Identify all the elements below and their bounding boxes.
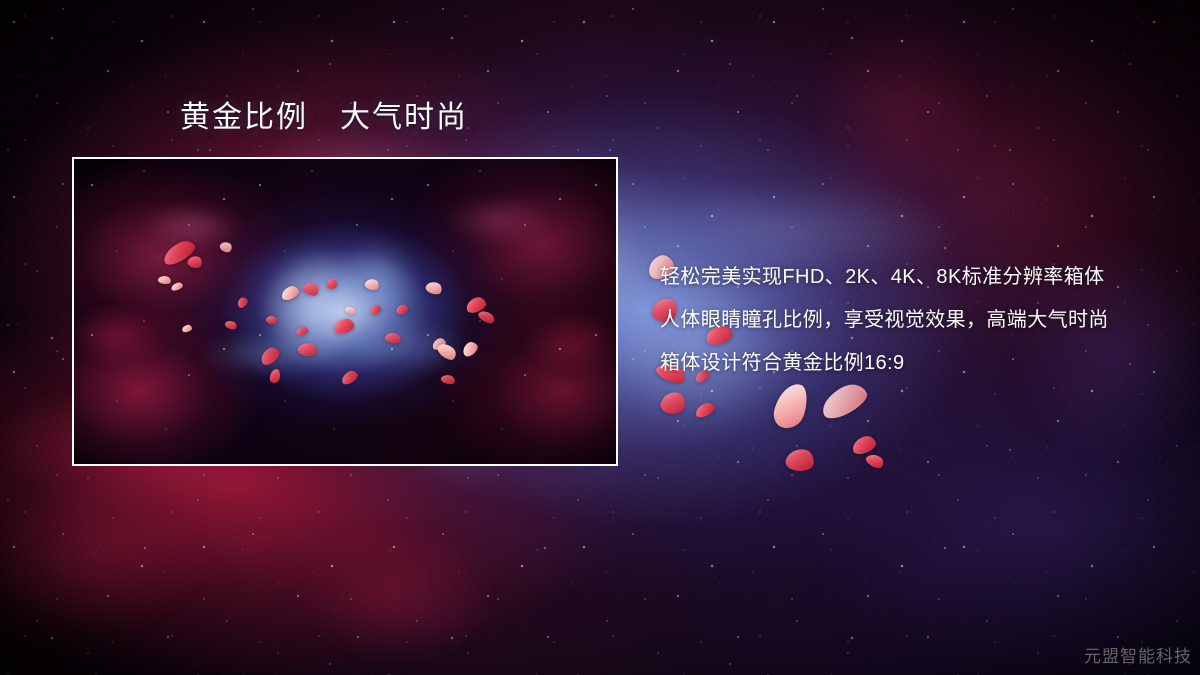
photo-starfield [74, 159, 616, 464]
slide-title: 黄金比例 大气时尚 [180, 100, 468, 136]
framed-photo [72, 157, 618, 466]
body-text-block: 轻松完美实现FHD、2K、4K、8K标准分辨率箱体 人体眼睛瞳孔比例，享受视觉效… [660, 256, 1180, 385]
rose-petal [850, 434, 878, 457]
rose-petal [693, 401, 716, 420]
rose-petal [864, 451, 886, 470]
watermark-text: 元盟智能科技 [1084, 642, 1192, 667]
rose-petal [659, 390, 686, 416]
body-line-2: 人体眼睛瞳孔比例，享受视觉效果，高端大气时尚 [660, 299, 1180, 342]
body-line-1: 轻松完美实现FHD、2K、4K、8K标准分辨率箱体 [660, 256, 1180, 299]
rose-petal [785, 447, 816, 473]
rose-petal [817, 379, 872, 423]
body-line-3: 箱体设计符合黄金比例16:9 [660, 342, 1180, 385]
presentation-slide: 黄金比例 大气时尚 轻松完美实现FHD、2K、4K、8K标准分辨率箱体 人体眼睛… [0, 0, 1200, 675]
photo-image [74, 159, 616, 464]
rose-petal [770, 380, 812, 432]
